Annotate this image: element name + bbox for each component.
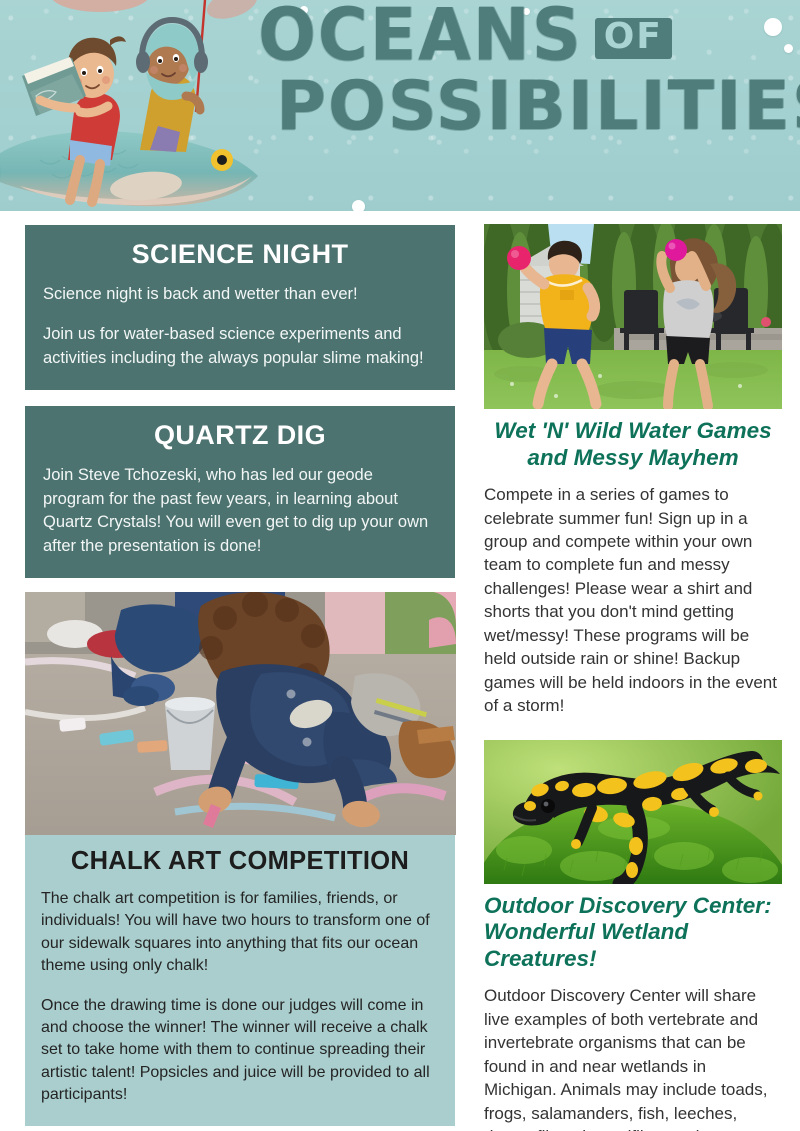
banner-title-line1: OCEANS OF bbox=[246, 6, 800, 71]
child-drawing-with-sidewalk-chalk-photo bbox=[25, 592, 456, 835]
outdoor-discovery-body: Outdoor Discovery Center will share live… bbox=[484, 984, 782, 1131]
outdoor-discovery-heading: Outdoor Discovery Center: Wonderful Wetl… bbox=[484, 893, 782, 973]
fire-salamander-on-moss-photo bbox=[484, 740, 782, 884]
header-banner: OCEANS OF POSSIBILITIES bbox=[0, 0, 800, 211]
banner-title-of-badge: OF bbox=[595, 18, 672, 59]
flyer-page: OCEANS OF POSSIBILITIES SCIENCE NIGHT Sc… bbox=[0, 0, 800, 1131]
quartz-dig-title: QUARTZ DIG bbox=[43, 420, 437, 451]
chalk-art-paragraph-1: The chalk art competition is for familie… bbox=[41, 888, 439, 978]
science-night-paragraph-2: Join us for water-based science experime… bbox=[43, 323, 437, 370]
chalk-art-competition-card: CHALK ART COMPETITION The chalk art comp… bbox=[25, 835, 455, 1127]
quartz-dig-paragraph-1: Join Steve Tchozeski, who has led our ge… bbox=[43, 464, 437, 558]
banner-title-possibilities: POSSIBILITIES bbox=[276, 67, 800, 146]
banner-title-line2: POSSIBILITIES bbox=[246, 75, 800, 139]
chalk-art-paragraph-2: Once the drawing time is done our judges… bbox=[41, 995, 439, 1107]
two-children-playing-with-balls-in-yard-photo bbox=[484, 224, 782, 409]
banner-title-oceans: OCEANS bbox=[258, 2, 583, 70]
wet-n-wild-heading: Wet 'N' Wild Water Games and Messy Mayhe… bbox=[484, 418, 782, 471]
quartz-dig-card: QUARTZ DIG Join Steve Tchozeski, who has… bbox=[25, 406, 455, 578]
chalk-art-title: CHALK ART COMPETITION bbox=[41, 847, 439, 876]
right-column: Wet 'N' Wild Water Games and Messy Mayhe… bbox=[484, 224, 782, 1131]
science-night-card: SCIENCE NIGHT Science night is back and … bbox=[25, 225, 455, 390]
wet-n-wild-body: Compete in a series of games to celebrat… bbox=[484, 483, 782, 718]
left-column: SCIENCE NIGHT Science night is back and … bbox=[25, 225, 455, 1126]
banner-title: OCEANS OF POSSIBILITIES bbox=[246, 6, 800, 206]
right-column-spacer bbox=[484, 718, 782, 740]
two-children-riding-fish-illustration bbox=[0, 0, 264, 211]
science-night-paragraph-1: Science night is back and wetter than ev… bbox=[43, 283, 437, 306]
science-night-title: SCIENCE NIGHT bbox=[43, 239, 437, 270]
